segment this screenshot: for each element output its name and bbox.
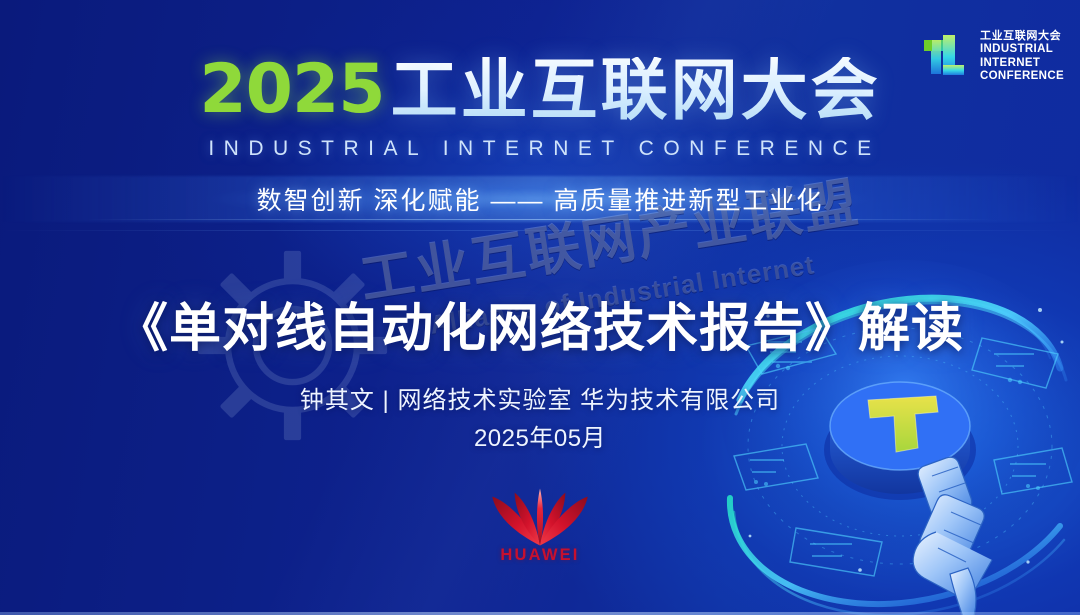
tagline-divider-line [86, 219, 993, 220]
event-title-row: 2025 工业互联网大会 [0, 56, 1080, 124]
huawei-wordmark: HUAWEI [479, 546, 601, 565]
presentation-slide: 工业互联网产业联盟 Alliance of Industrial Interne… [0, 0, 1080, 615]
header-hairline [0, 230, 1080, 231]
event-header: 2025 工业互联网大会 INDUSTRIAL INTERNET CONFERE… [0, 56, 1080, 161]
report-title: 《单对线自动化网络技术报告》解读 [0, 286, 1080, 361]
presentation-date: 2025年05月 [0, 418, 1080, 453]
event-title-cn: 工业互联网大会 [391, 57, 881, 124]
conference-logo-en-line1: INDUSTRIAL [980, 43, 1064, 57]
huawei-flower-icon [479, 484, 601, 550]
huawei-logo: HUAWEI [479, 484, 601, 565]
event-year: 2025 [199, 56, 384, 124]
event-title-en: INDUSTRIAL INTERNET CONFERENCE [0, 137, 1080, 161]
conference-logo-cn: 工业互联网大会 [980, 30, 1064, 43]
event-tagline: 数智创新 深化赋能 —— 高质量推进新型工业化 [0, 181, 1080, 217]
presenter-line: 钟其文 | 网络技术实验室 华为技术有限公司 [0, 380, 1080, 415]
